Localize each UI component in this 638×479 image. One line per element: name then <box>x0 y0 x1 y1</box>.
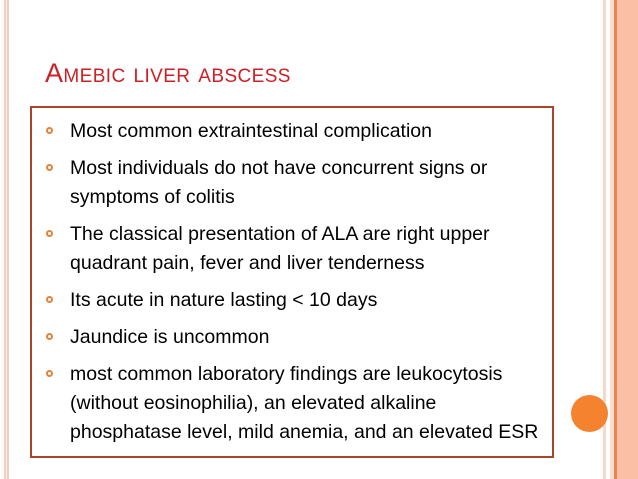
list-item: The classical presentation of ALA are ri… <box>42 220 542 278</box>
content-box: Most common extraintestinal complication… <box>30 106 554 458</box>
list-item-label: The classical presentation of ALA are ri… <box>70 223 490 274</box>
list-item: Jaundice is uncommon <box>42 323 542 352</box>
slide: Amebic liver abscess Most common extrain… <box>0 0 638 479</box>
list-item-label: Jaundice is uncommon <box>70 326 269 348</box>
list-item-label: Most individuals do not have concurrent … <box>70 157 487 208</box>
bullet-circle-icon <box>46 230 53 237</box>
page-title: Amebic liver abscess <box>45 60 291 87</box>
bullet-circle-icon <box>46 333 53 340</box>
left-decorative-stripe-inner <box>7 0 9 479</box>
bullet-list: Most common extraintestinal complication… <box>32 108 552 447</box>
bullet-circle-icon <box>46 127 53 134</box>
list-item: most common laboratory findings are leuk… <box>42 360 542 447</box>
list-item-label: most common laboratory findings are leuk… <box>70 363 538 443</box>
list-item-label: Its acute in nature lasting < 10 days <box>70 289 377 311</box>
bullet-circle-icon <box>46 164 53 171</box>
list-item: Most individuals do not have concurrent … <box>42 154 542 212</box>
list-item: Its acute in nature lasting < 10 days <box>42 286 542 315</box>
bullet-circle-icon <box>46 370 53 377</box>
bullet-circle-icon <box>46 296 53 303</box>
list-item-label: Most common extraintestinal complication <box>70 120 432 142</box>
list-item: Most common extraintestinal complication <box>42 117 542 146</box>
right-decorative-band <box>617 0 638 479</box>
orange-circle-decoration-icon <box>571 395 608 432</box>
